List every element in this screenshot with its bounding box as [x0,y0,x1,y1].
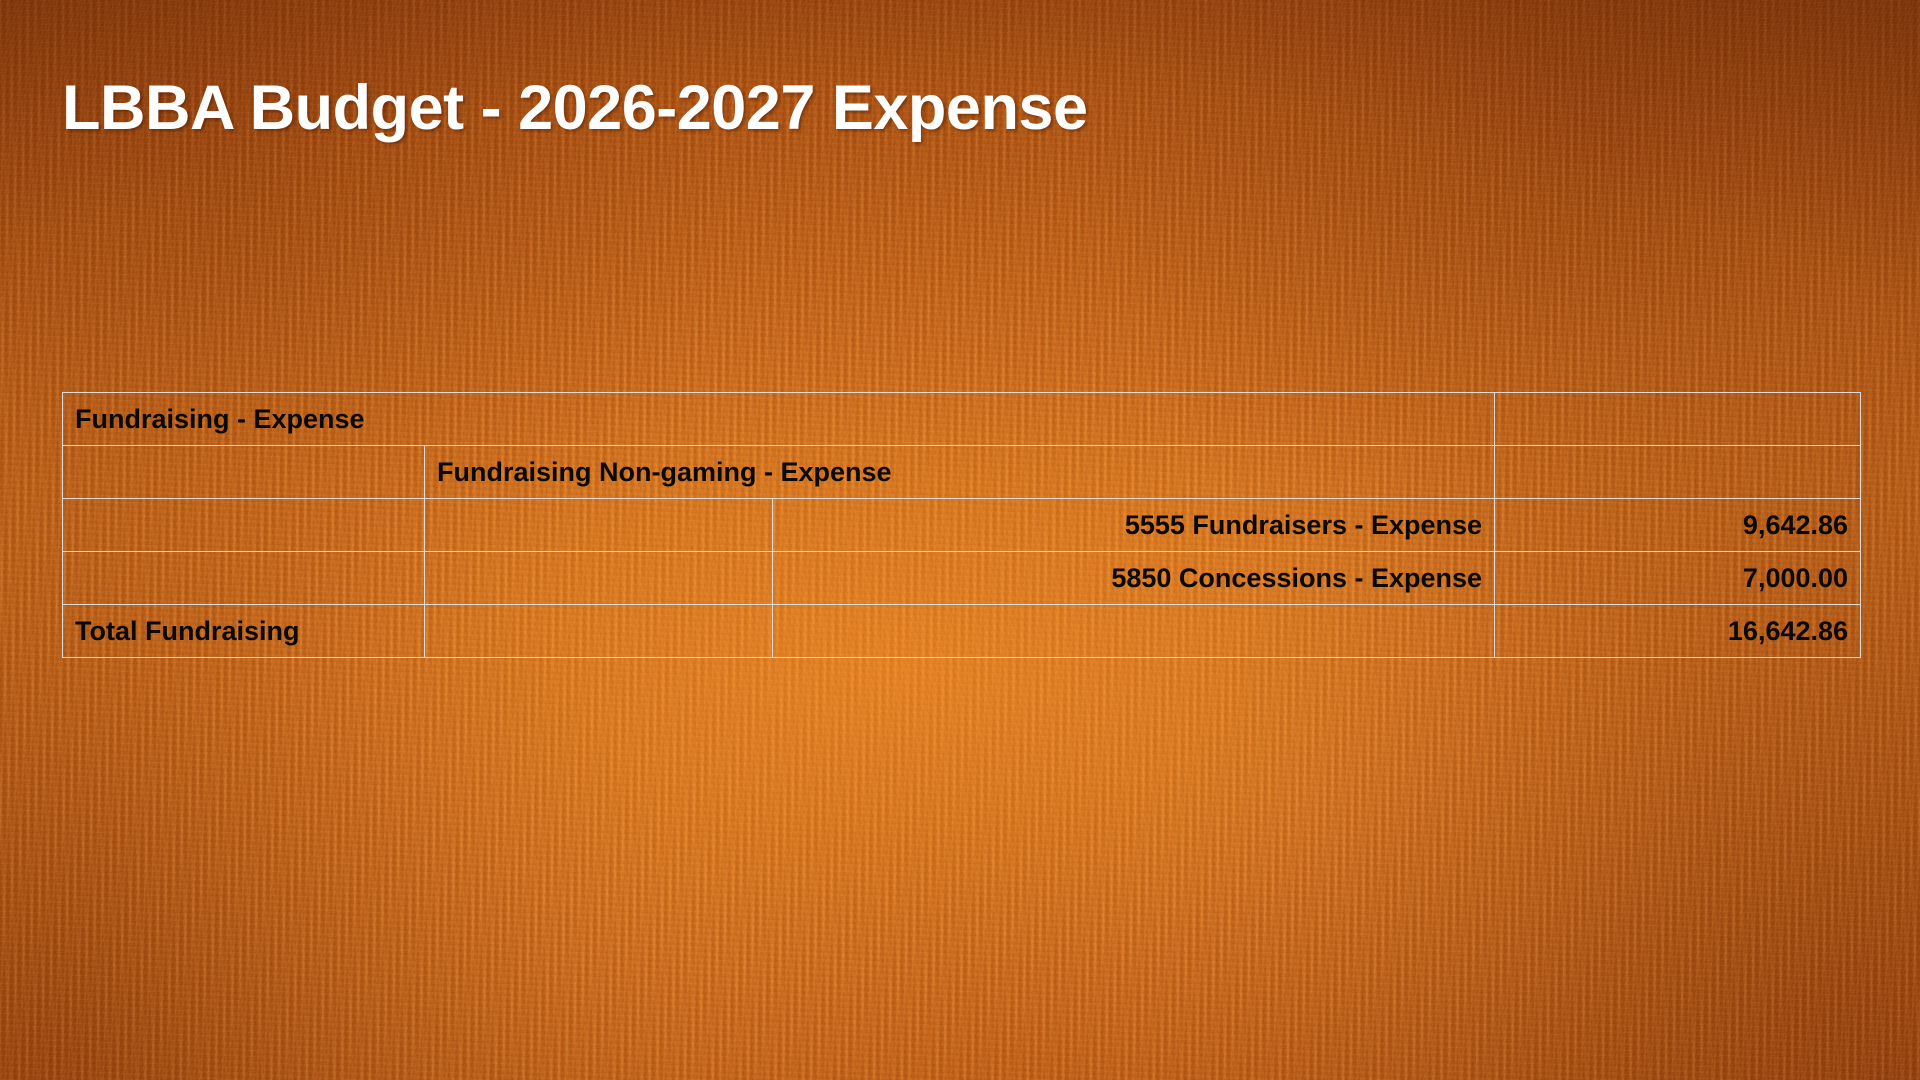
section-header-label: Fundraising - Expense [63,393,1495,446]
table-row: Total Fundraising 16,642.86 [63,605,1861,658]
total-fundraising-label: Total Fundraising [63,605,425,658]
subsection-indent-cell [63,446,425,499]
table-row: Fundraising - Expense [63,393,1861,446]
total-row-blank-c [773,605,1495,658]
total-row-blank-b [425,605,773,658]
line-item-5555-amount: 9,642.86 [1495,499,1861,552]
line-item-5555-label: 5555 Fundraisers - Expense [773,499,1495,552]
section-header-amount [1495,393,1861,446]
line-item-5850-label: 5850 Concessions - Expense [773,552,1495,605]
page-title: LBBA Budget - 2026-2027 Expense [62,72,1088,144]
subsection-amount [1495,446,1861,499]
table-row: Fundraising Non-gaming - Expense [63,446,1861,499]
budget-expense-table: Fundraising - Expense Fundraising Non-ga… [62,392,1861,658]
table-row: 5555 Fundraisers - Expense 9,642.86 [63,499,1861,552]
line-item-5555-indent-a [63,499,425,552]
line-item-5555-indent-b [425,499,773,552]
line-item-5850-amount: 7,000.00 [1495,552,1861,605]
table-row: 5850 Concessions - Expense 7,000.00 [63,552,1861,605]
subsection-label: Fundraising Non-gaming - Expense [425,446,1495,499]
line-item-5850-indent-a [63,552,425,605]
total-fundraising-amount: 16,642.86 [1495,605,1861,658]
line-item-5850-indent-b [425,552,773,605]
